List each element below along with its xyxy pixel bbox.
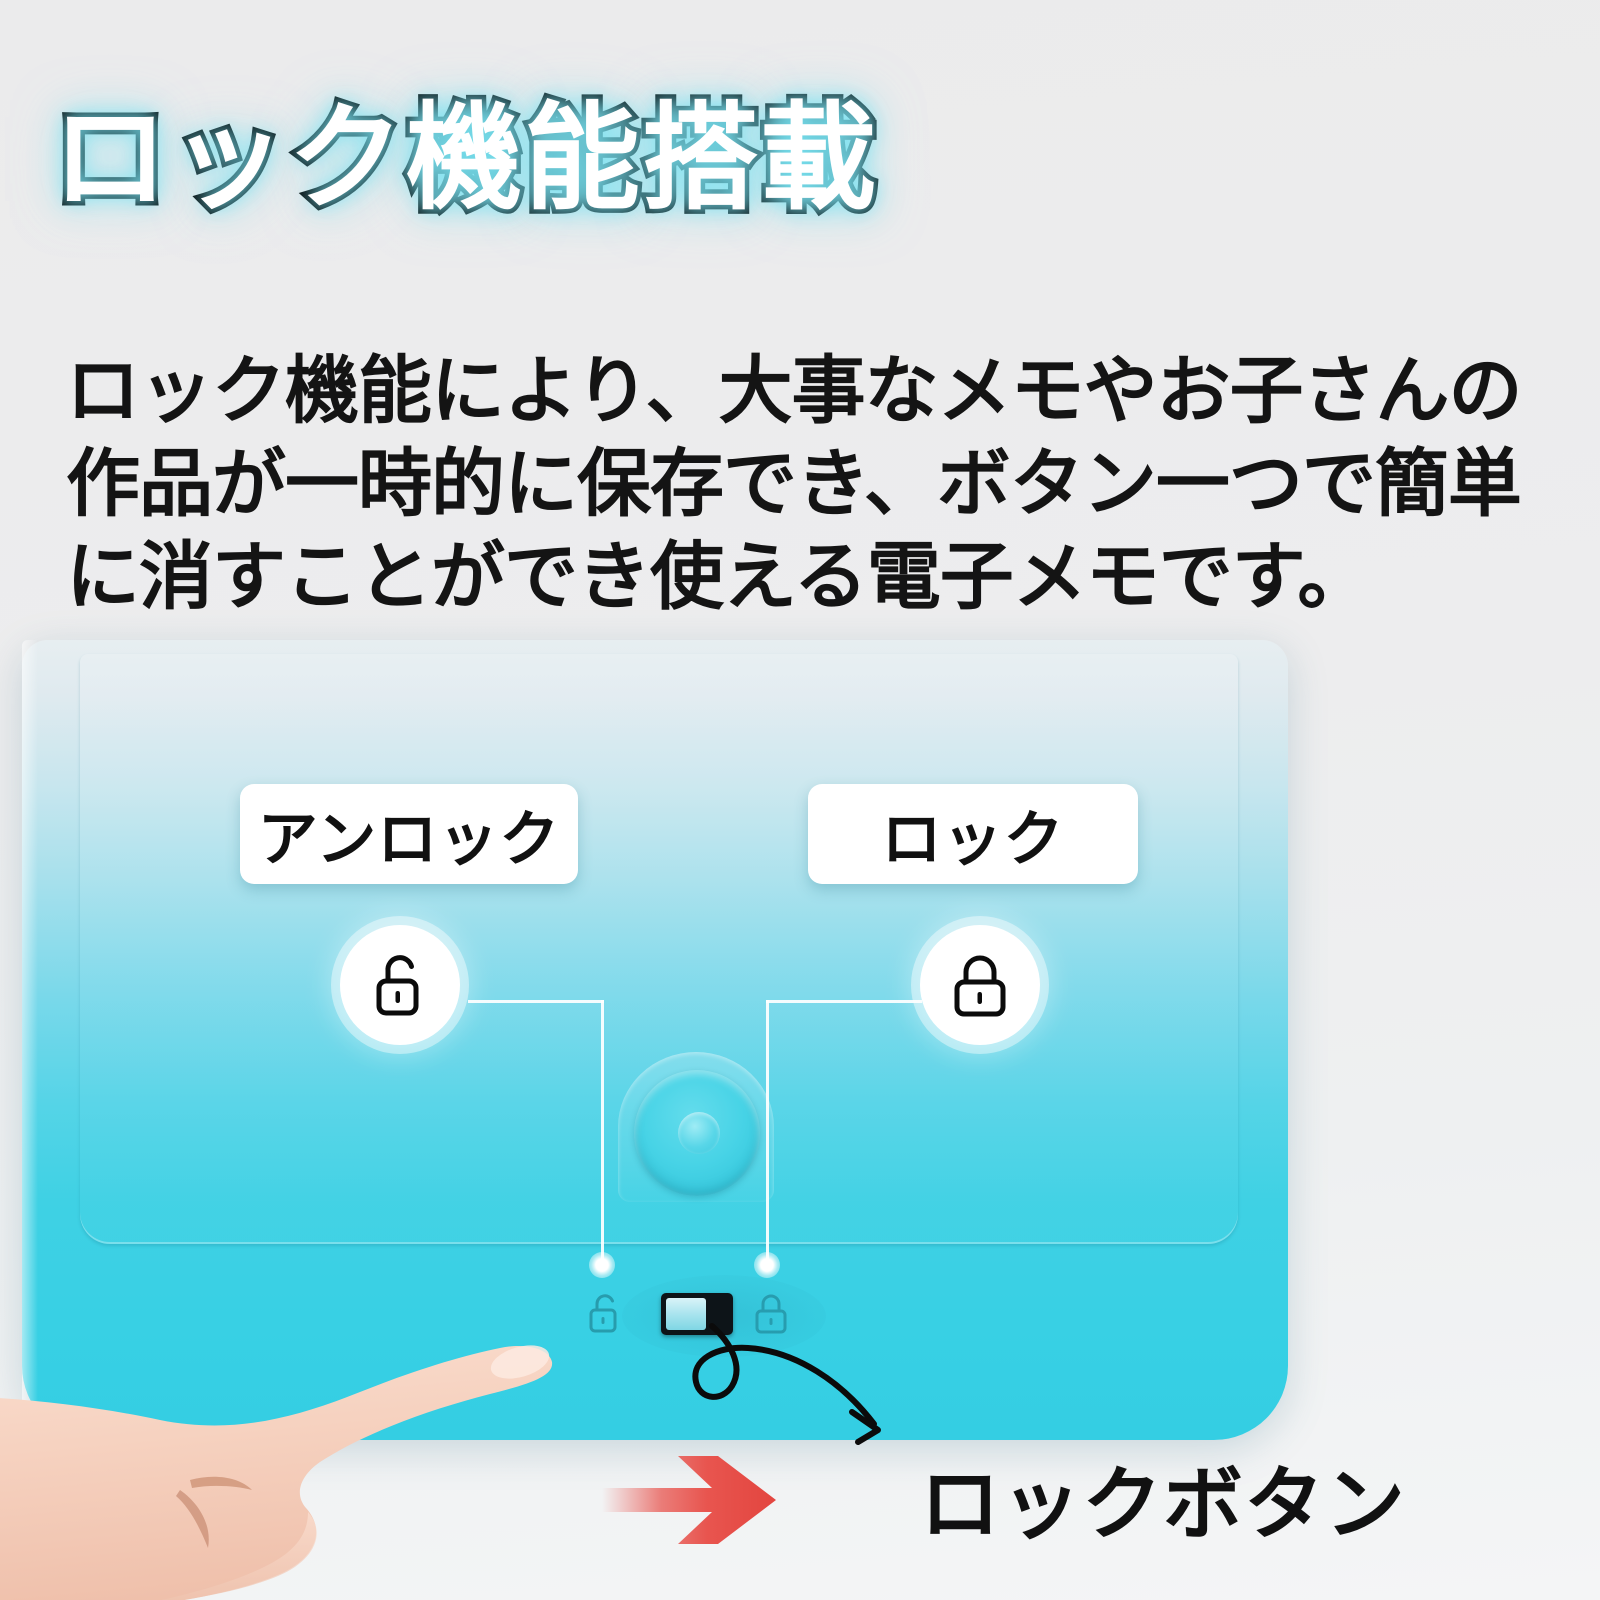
device-left-edge-highlight bbox=[22, 640, 38, 1440]
erase-power-button[interactable] bbox=[634, 1070, 760, 1196]
leader-line-unlock-vertical bbox=[601, 1000, 604, 1262]
connector-dot-lock bbox=[754, 1252, 780, 1278]
leader-line-lock-vertical bbox=[766, 1000, 769, 1262]
bezel-unlock-padlock-icon bbox=[586, 1290, 624, 1336]
product-feature-graphic: ロック機能搭載 ロック機能により、大事なメモやお子さんの 作品が一時的に保存でき… bbox=[0, 0, 1600, 1600]
leader-line-lock-horizontal bbox=[766, 1000, 922, 1003]
unlock-padlock-icon bbox=[340, 925, 460, 1045]
erase-button-inner-ring bbox=[678, 1112, 720, 1154]
red-chevron-arrow-icon bbox=[600, 1440, 790, 1560]
locked-padlock-icon bbox=[920, 925, 1040, 1045]
connector-dot-unlock bbox=[589, 1252, 615, 1278]
callout-unlock: アンロック bbox=[240, 784, 578, 884]
leader-line-unlock-horizontal bbox=[468, 1000, 604, 1003]
lock-button-annotation-label: ロックボタン bbox=[920, 1440, 1406, 1556]
description-paragraph: ロック機能により、大事なメモやお子さんの 作品が一時的に保存でき、ボタン一つで簡… bbox=[66, 344, 1566, 624]
page-title: ロック機能搭載 bbox=[52, 96, 878, 221]
description-line-3: に消すことができ使える電子メモです。 bbox=[66, 530, 1566, 623]
callout-lock: ロック bbox=[808, 784, 1138, 884]
description-line-1: ロック機能により、大事なメモやお子さんの bbox=[66, 344, 1566, 437]
description-line-2: 作品が一時的に保存でき、ボタン一つで簡単 bbox=[66, 437, 1566, 530]
